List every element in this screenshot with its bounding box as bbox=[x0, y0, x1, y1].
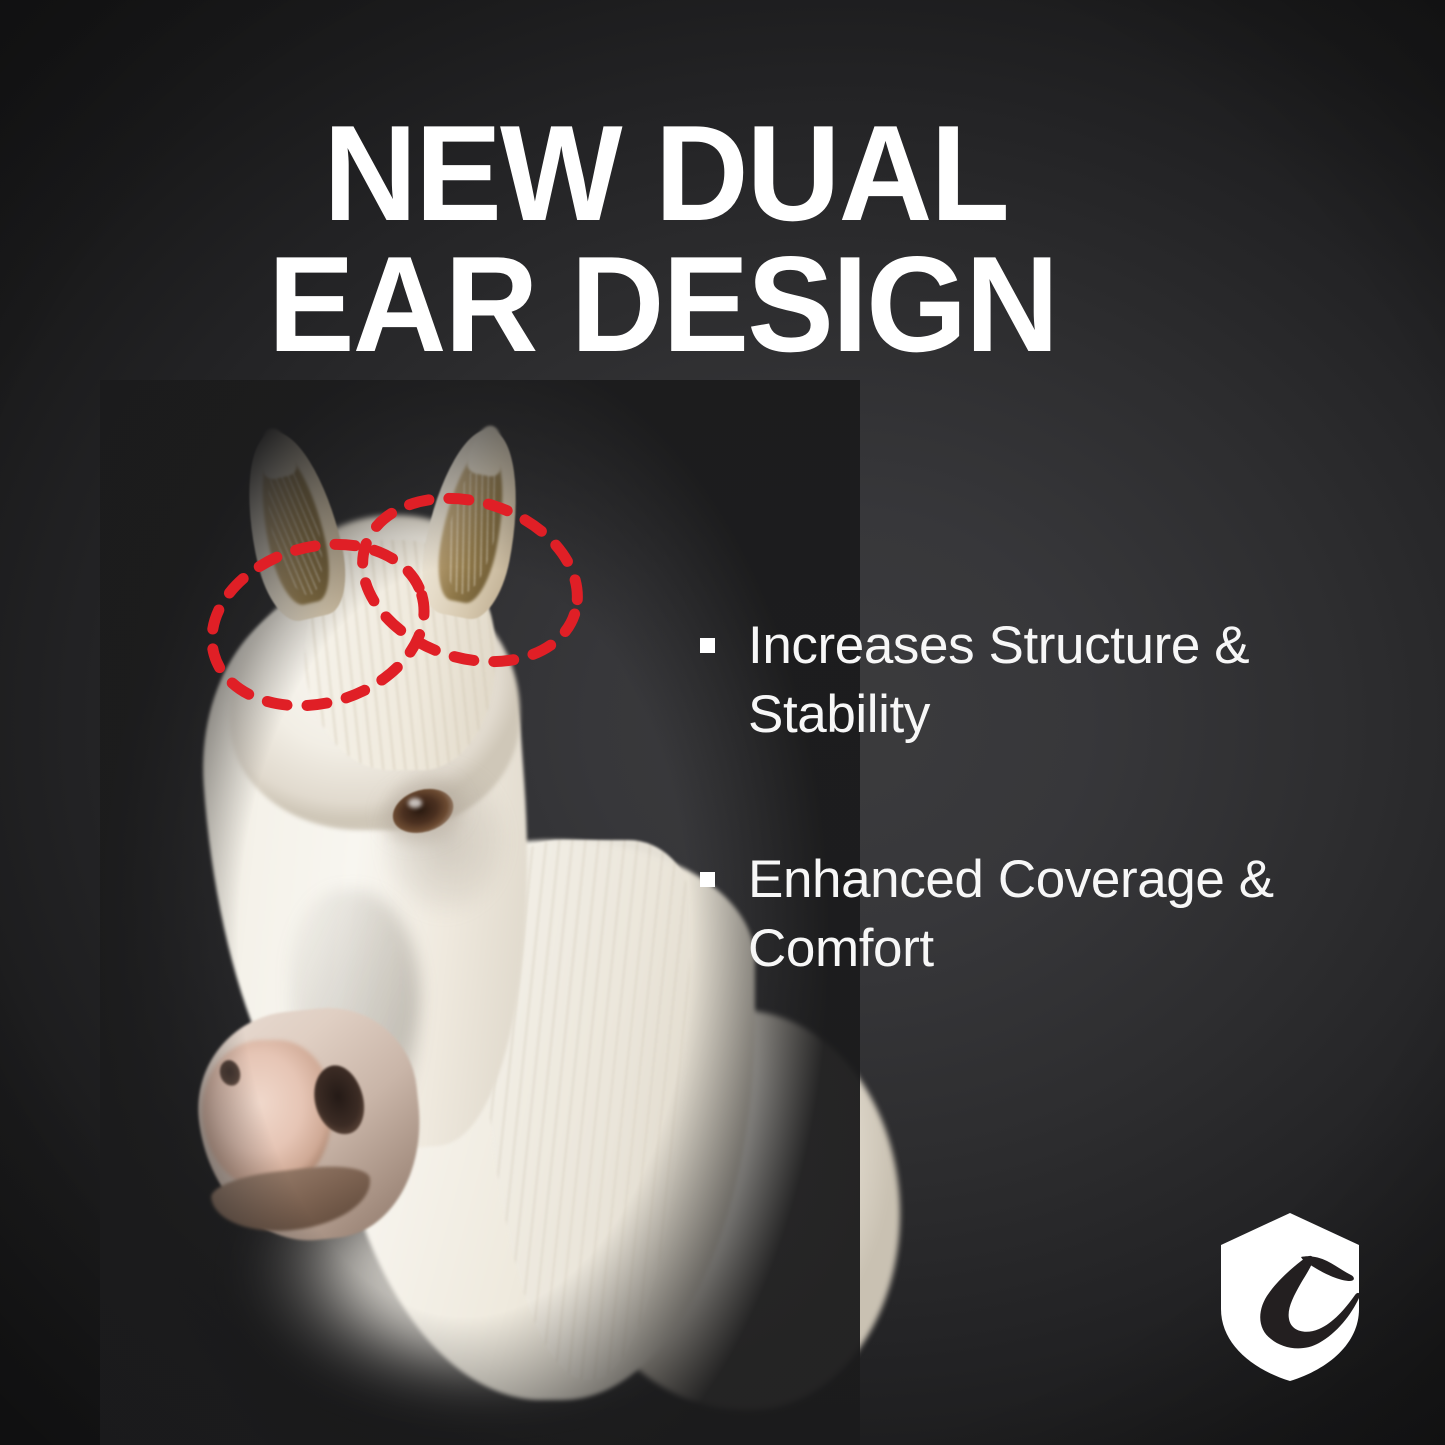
horse-eye-shine bbox=[408, 798, 422, 808]
horse-ear-left bbox=[230, 423, 357, 627]
feature-list: Increases Structure & Stability Enhanced… bbox=[700, 612, 1360, 984]
horse-ear-right bbox=[413, 422, 534, 625]
headline-line-1: NEW DUAL bbox=[323, 108, 1175, 239]
list-item: Enhanced Coverage & Comfort bbox=[700, 846, 1360, 984]
page-title: NEW DUAL EAR DESIGN bbox=[268, 108, 1175, 369]
bullet-square-icon bbox=[700, 872, 715, 887]
horse-cheek-shadow bbox=[370, 750, 520, 930]
feature-text: Increases Structure & Stability bbox=[748, 612, 1360, 750]
ad-canvas: NEW DUAL EAR DESIGN bbox=[0, 0, 1445, 1445]
shield-k-logo bbox=[1213, 1211, 1367, 1383]
bullet-square-icon bbox=[700, 638, 715, 653]
list-item: Increases Structure & Stability bbox=[700, 612, 1360, 750]
headline-line-2: EAR DESIGN bbox=[268, 239, 1175, 370]
feature-text: Enhanced Coverage & Comfort bbox=[748, 846, 1360, 984]
